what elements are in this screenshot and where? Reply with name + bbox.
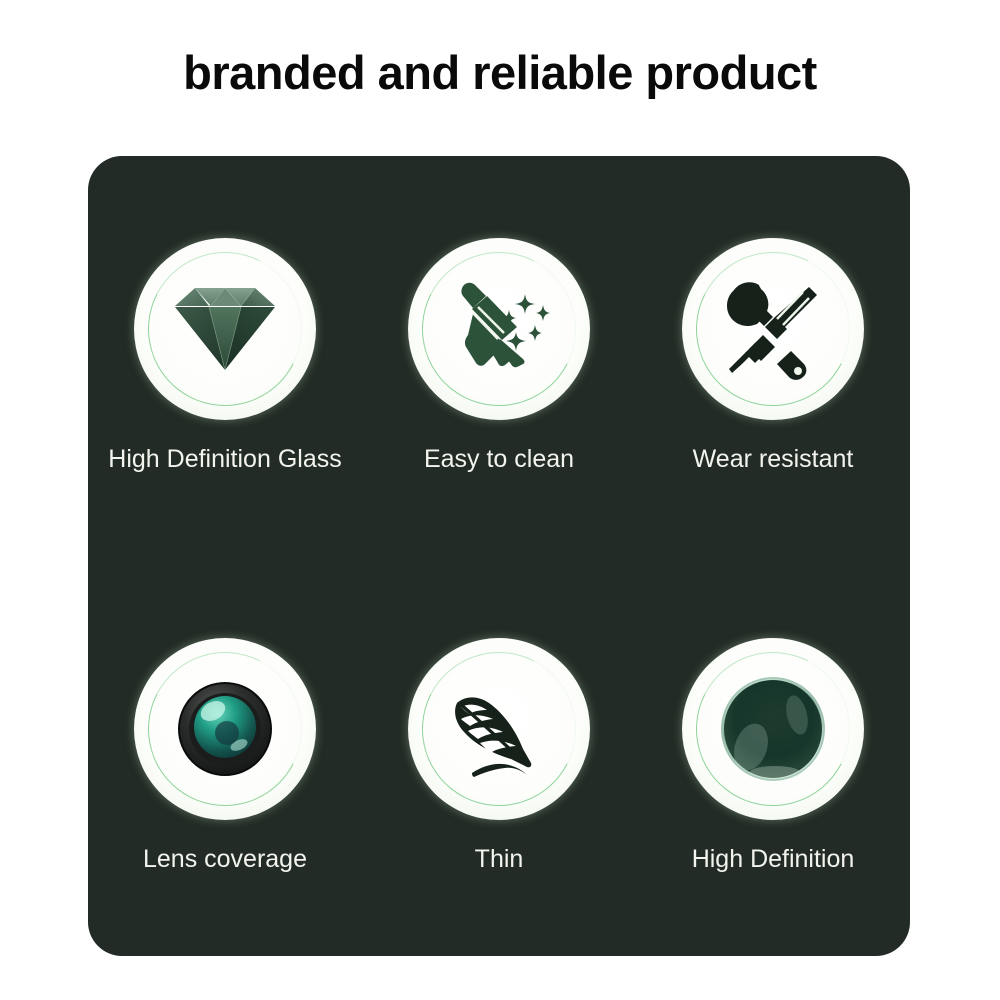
feature-label: Easy to clean <box>424 444 574 474</box>
icon-circle <box>682 238 864 420</box>
broom-sparkle-icon <box>439 269 559 389</box>
feature-item-high-definition[interactable]: High Definition <box>636 556 910 956</box>
camera-lens-icon <box>165 669 285 789</box>
feature-item-easy-to-clean[interactable]: Easy to clean <box>362 156 636 556</box>
feature-item-high-definition-glass[interactable]: High Definition Glass <box>88 156 362 556</box>
feature-panel: High Definition Glass <box>88 156 910 956</box>
feature-label: High Definition Glass <box>108 444 341 474</box>
feature-grid: High Definition Glass <box>88 156 910 956</box>
feature-item-thin[interactable]: Thin <box>362 556 636 956</box>
diamond-icon <box>165 269 285 389</box>
icon-circle <box>134 638 316 820</box>
icon-circle <box>134 238 316 420</box>
feature-label: Wear resistant <box>693 444 854 474</box>
glossy-sphere-icon <box>713 669 833 789</box>
icon-circle <box>408 238 590 420</box>
feature-label: Lens coverage <box>143 844 307 874</box>
icon-circle <box>408 638 590 820</box>
feature-label: Thin <box>475 844 524 874</box>
page-title: branded and reliable product <box>0 45 1000 101</box>
feature-item-wear-resistant[interactable]: Wear resistant <box>636 156 910 556</box>
feature-item-lens-coverage[interactable]: Lens coverage <box>88 556 362 956</box>
wrench-screwdriver-icon <box>713 269 833 389</box>
feature-label: High Definition <box>692 844 855 874</box>
feather-icon <box>439 669 559 789</box>
icon-circle <box>682 638 864 820</box>
